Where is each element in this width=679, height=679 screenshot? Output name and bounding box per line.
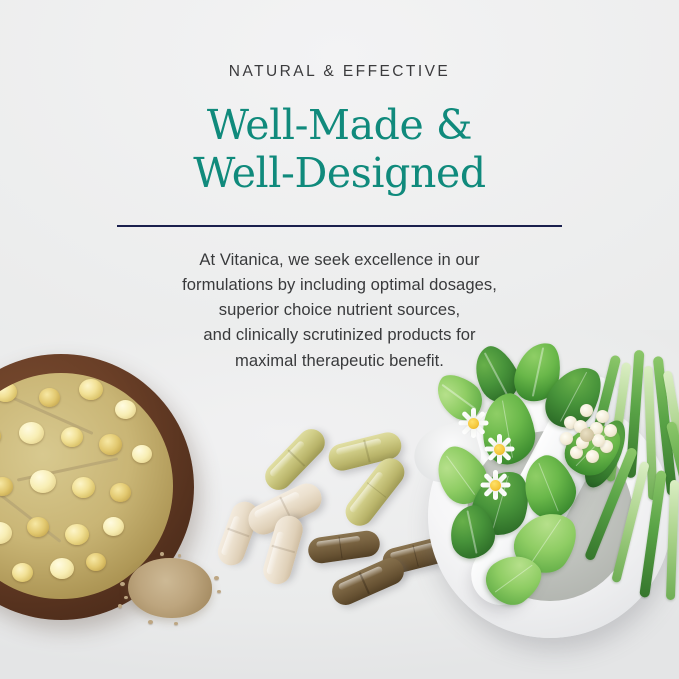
- chamomile-floret: [65, 524, 89, 545]
- chamomile-floret: [19, 422, 44, 444]
- leaf-vein: [538, 463, 559, 512]
- daisy-flower: [478, 468, 512, 502]
- daisy-center: [468, 418, 479, 429]
- powder-grain: [160, 552, 164, 556]
- daisy-center: [494, 444, 505, 455]
- chamomile-floret: [12, 563, 33, 582]
- body-paragraph: At Vitanica, we seek excellence in our f…: [0, 247, 679, 373]
- elderflower-cluster: [556, 404, 618, 466]
- powder-grain: [178, 554, 181, 557]
- chamomile-floret: [0, 427, 1, 445]
- body-line-4: and clinically scrutinized products for: [0, 322, 679, 347]
- leaf-vein: [446, 455, 476, 495]
- chamomile-floret: [61, 427, 83, 447]
- chamomile-floret: [72, 477, 95, 498]
- chamomile-floret: [99, 434, 122, 455]
- ceramic-mortar-and-pestle: [420, 360, 679, 646]
- page-title: Well-Made & Well-Designed: [0, 101, 679, 198]
- body-line-2: formulations by including optimal dosage…: [0, 272, 679, 297]
- chamomile-floret: [50, 558, 74, 579]
- powder-grain: [120, 582, 125, 586]
- herbal-powder-pile: [118, 552, 222, 626]
- powder-grain: [148, 620, 153, 624]
- chamomile-floret: [0, 522, 12, 544]
- chamomile-floret: [30, 470, 56, 493]
- leaf-vein: [530, 519, 561, 564]
- capsule-highlight: [316, 535, 361, 548]
- powder-grain: [214, 576, 219, 580]
- promotional-banner: NATURAL & EFFECTIVE Well-Made & Well-Des…: [0, 0, 679, 679]
- headline-line-2: Well-Designed: [0, 149, 679, 197]
- headline-line-1: Well-Made &: [0, 101, 679, 149]
- body-line-5: maximal therapeutic benefit.: [0, 348, 679, 373]
- umbel-center: [580, 428, 594, 442]
- chamomile-floret: [115, 400, 136, 419]
- chamomile-floret: [132, 445, 152, 463]
- daisy-flower: [482, 432, 516, 466]
- body-line-3: superior choice nutrient sources,: [0, 297, 679, 322]
- powder-grain: [118, 604, 122, 608]
- leaf-vein: [467, 511, 477, 554]
- leaf-vein: [495, 565, 533, 593]
- chamomile-floret: [110, 483, 131, 502]
- daisy-center: [490, 480, 501, 491]
- chamomile-floret: [0, 477, 13, 496]
- powder-grain: [124, 596, 128, 599]
- chamomile-floret: [103, 517, 124, 536]
- text-block: NATURAL & EFFECTIVE Well-Made & Well-Des…: [0, 64, 679, 389]
- body-line-1: At Vitanica, we seek excellence in our: [0, 247, 679, 272]
- chamomile-floret: [27, 517, 49, 537]
- eyebrow-text: NATURAL & EFFECTIVE: [0, 64, 679, 80]
- powder-grain: [174, 622, 178, 625]
- powder-grain: [217, 590, 221, 593]
- powder-mound: [128, 558, 212, 618]
- chamomile-floret: [39, 388, 60, 407]
- chamomile-floret: [86, 553, 106, 571]
- divider: [117, 225, 562, 227]
